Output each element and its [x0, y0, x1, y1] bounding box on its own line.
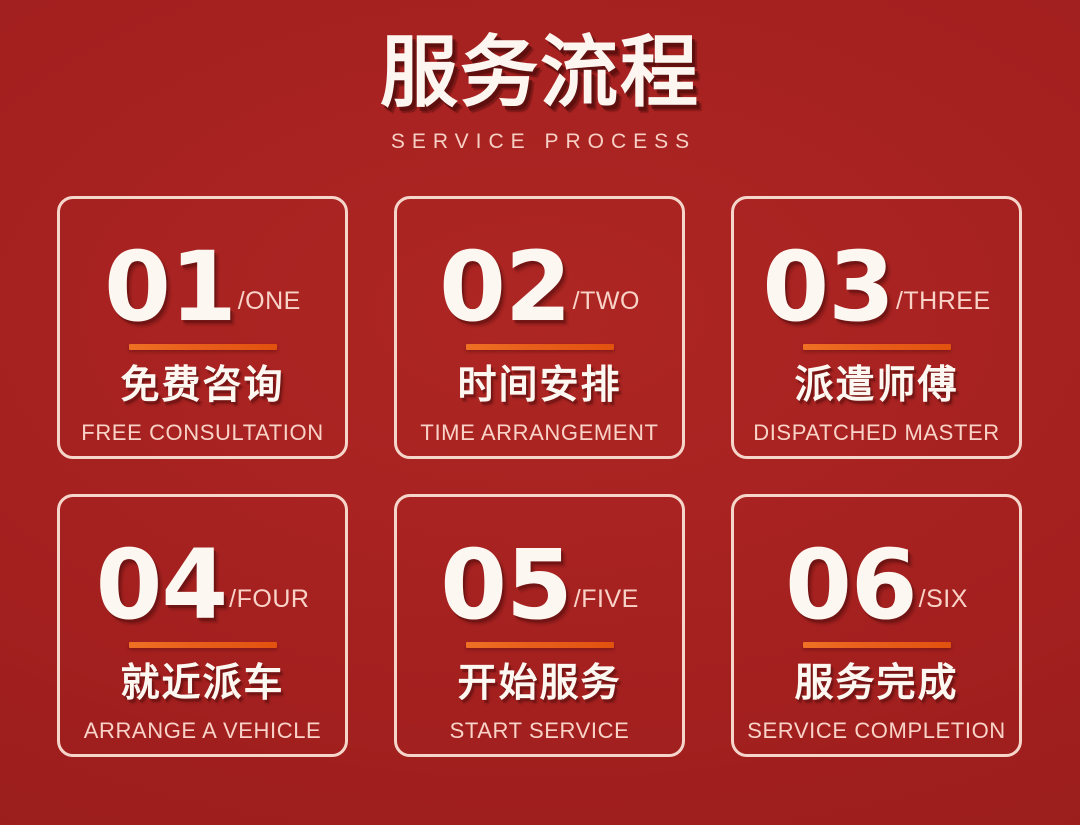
step-label-cn: 就近派车	[120, 662, 284, 706]
step-number-row: 06 /SIX	[750, 515, 1003, 630]
steps-grid: 01 /ONE 免费咨询 FREE CONSULTATION 02 /TWO 时…	[57, 196, 1023, 757]
step-label-en: START SERVICE	[450, 718, 630, 744]
step-number-row: 05 /FIVE	[413, 515, 666, 630]
step-number-row: 02 /TWO	[413, 217, 666, 332]
step-label-en: FREE CONSULTATION	[81, 420, 323, 446]
step-divider	[466, 642, 614, 649]
step-number-word: /THREE	[896, 287, 991, 332]
step-label-cn: 时间安排	[457, 364, 621, 408]
step-divider	[803, 344, 951, 351]
step-card-03: 03 /THREE 派遣师傅 DISPATCHED MASTER	[731, 196, 1022, 459]
step-number-row: 04 /FOUR	[76, 515, 329, 630]
step-label-en: DISPATCHED MASTER	[753, 420, 1000, 446]
step-label-en: SERVICE COMPLETION	[747, 718, 1006, 744]
step-card-06: 06 /SIX 服务完成 SERVICE COMPLETION	[731, 494, 1022, 757]
step-number-row: 01 /ONE	[76, 217, 329, 332]
step-label-cn: 服务完成	[794, 662, 958, 706]
step-card-05: 05 /FIVE 开始服务 START SERVICE	[394, 494, 685, 757]
page-title: 服务流程	[0, 34, 1080, 118]
step-label-en: ARRANGE A VEHICLE	[84, 718, 322, 744]
step-number-word: /FIVE	[574, 585, 639, 630]
step-divider	[129, 642, 277, 649]
step-number-word: /FOUR	[229, 585, 309, 630]
step-number-word: /TWO	[573, 287, 640, 332]
step-label-cn: 派遣师傅	[794, 364, 958, 408]
step-number: 02	[439, 243, 571, 331]
step-card-01: 01 /ONE 免费咨询 FREE CONSULTATION	[57, 196, 348, 459]
step-label-cn: 免费咨询	[120, 364, 284, 408]
step-label-cn: 开始服务	[457, 662, 621, 706]
step-divider	[129, 344, 277, 351]
step-number-row: 03 /THREE	[750, 217, 1003, 332]
step-number-word: /ONE	[238, 287, 301, 332]
poster-header: 服务流程 SERVICE PROCESS	[0, 0, 1080, 154]
step-divider	[466, 344, 614, 351]
step-number: 05	[440, 541, 572, 629]
step-number: 01	[104, 243, 236, 331]
step-number: 03	[762, 243, 894, 331]
step-number: 06	[785, 541, 917, 629]
step-number-word: /SIX	[919, 585, 968, 630]
step-divider	[803, 642, 951, 649]
step-number: 04	[96, 541, 228, 629]
service-process-poster: 服务流程 SERVICE PROCESS 01 /ONE 免费咨询 FREE C…	[0, 0, 1080, 825]
step-card-04: 04 /FOUR 就近派车 ARRANGE A VEHICLE	[57, 494, 348, 757]
page-subtitle: SERVICE PROCESS	[0, 130, 1080, 154]
step-label-en: TIME ARRANGEMENT	[420, 420, 658, 446]
step-card-02: 02 /TWO 时间安排 TIME ARRANGEMENT	[394, 196, 685, 459]
